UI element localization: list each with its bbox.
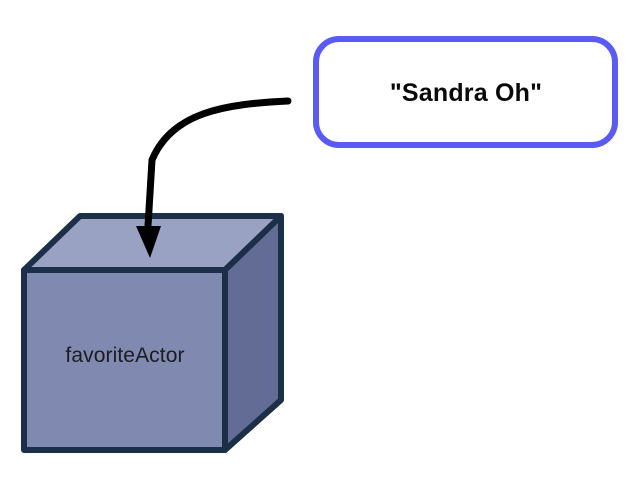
arrow-curve-line xyxy=(148,101,288,226)
variable-name-label: favoriteActor xyxy=(65,344,184,367)
value-node[interactable]: "Sandra Oh" xyxy=(316,39,615,145)
diagram-canvas: favoriteActor "Sandra Oh" xyxy=(0,0,639,484)
variable-cube[interactable]: favoriteActor xyxy=(24,216,281,450)
value-node-label: "Sandra Oh" xyxy=(390,79,542,107)
variable-assignment-diagram: favoriteActor "Sandra Oh" xyxy=(0,0,639,484)
